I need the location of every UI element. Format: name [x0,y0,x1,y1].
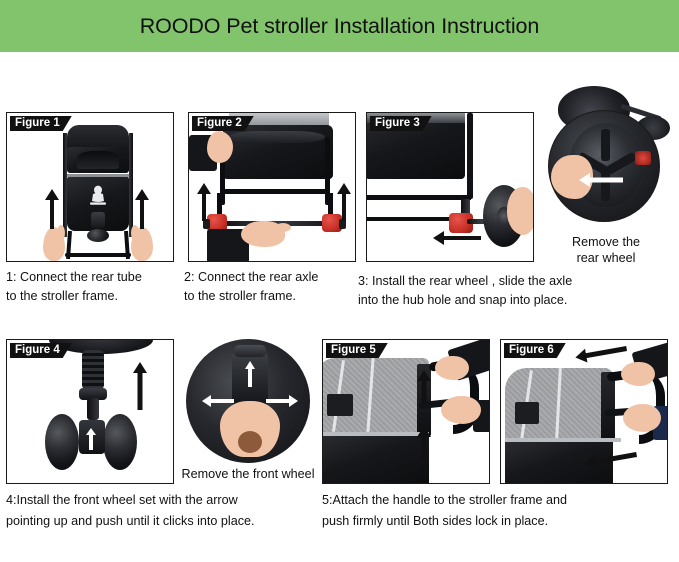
figure-5-label: Figure 5 [326,343,388,358]
front-wheel-right [103,414,137,470]
frame-cross-tube [220,189,330,194]
step-5-caption-line1: 5:Attach the handle to the stroller fram… [322,491,567,510]
step-3-caption-line2: into the hub hole and snap into place. [358,291,567,310]
inset-white-arrow-left-icon [202,395,234,407]
figure-4-panel: Figure 4 [6,339,174,484]
inset-wheel-spoke-1 [601,129,610,161]
up-arrow-lower-icon [417,426,431,460]
figure-1-label: Figure 1 [10,116,72,131]
inset-white-left-arrow-icon [579,173,623,187]
stroller-buckle [91,212,105,228]
stroller-frame-right-rail [129,133,133,237]
page-title: ROODO Pet stroller Installation Instruct… [140,14,540,39]
lower-hand [623,404,661,432]
stroller-side-panel [601,372,615,442]
remove-rear-wheel-caption-line1: Remove the [540,234,672,250]
figure-3-label: Figure 3 [370,116,432,131]
step-2-caption-line1: 2: Connect the rear axle [184,268,318,287]
figure-2-label: Figure 2 [192,116,254,131]
step-4-caption-line2: pointing up and push until it clicks int… [6,512,255,531]
stroller-rear-tube [65,253,131,257]
figure-5-panel: Figure 5 [322,339,490,484]
housing-up-arrow-icon [85,428,97,450]
canopy-mesh-window [327,394,353,416]
step-2-caption-line2: to the stroller frame. [184,287,296,306]
frame-vertical-post [467,113,473,199]
inset-red-hub [635,151,651,165]
roodo-logo [86,183,110,207]
upper-hand [621,362,655,386]
right-hand [507,187,534,235]
front-wheel-left [45,414,79,470]
up-arrow-icon [133,362,147,410]
stroller-rear-wheel [87,229,109,242]
remove-front-wheel-caption: Remove the front wheel [180,466,316,482]
frame-lower-rail [322,432,429,436]
frame-lower-bar [366,195,471,200]
upper-hand [207,131,233,163]
left-arrow-upper-icon [574,342,628,365]
step-3-caption-line1: 3: Install the rear wheel , slide the ax… [358,272,572,291]
figure-6-panel: Figure 6 [500,339,668,484]
step-5-caption-line2: push firmly until Both sides lock in pla… [322,512,548,531]
inset-circle-photo [548,110,660,222]
inset-white-arrow-right-icon [266,395,298,407]
up-arrow-upper-icon [417,370,431,404]
inset-housing-cap [234,345,266,357]
lower-hand [441,396,481,424]
figure-1-panel: Figure 1 [6,112,174,262]
remove-rear-wheel-inset [540,86,672,216]
up-arrow-left-icon [197,183,211,221]
fork-stem [87,398,99,420]
up-arrow-left-icon [45,189,59,229]
remove-front-wheel-inset [186,339,310,463]
figure-2-panel: Figure 2 [188,112,356,262]
figure-3-panel: Figure 3 [366,112,534,262]
header-banner: ROODO Pet stroller Installation Instruct… [0,0,679,52]
up-arrow-right-icon [337,183,351,221]
up-arrow-right-icon [135,189,149,229]
stroller-pocket-shadow [77,151,119,169]
canopy-mesh-window [515,402,539,424]
frame-lower-rail [505,438,621,442]
remove-rear-wheel-caption-line2: rear wheel [540,250,672,266]
step-1-caption-line2: to the stroller frame. [6,287,118,306]
figure-6-label: Figure 6 [504,343,566,358]
basket-fold-highlight [229,131,325,143]
left-arrow-icon [433,231,481,245]
inset-white-up-arrow-icon [244,361,256,387]
lower-finger [275,223,291,232]
stroller-lower-body [322,434,429,484]
upper-hand [435,356,469,380]
step-4-caption-line1: 4:Install the front wheel set with the a… [6,491,238,510]
step-1-caption-line1: 1: Connect the rear tube [6,268,142,287]
inset-thumb-tip [238,431,262,453]
fork-ribbed-column [82,350,104,390]
figure-4-label: Figure 4 [10,343,72,358]
